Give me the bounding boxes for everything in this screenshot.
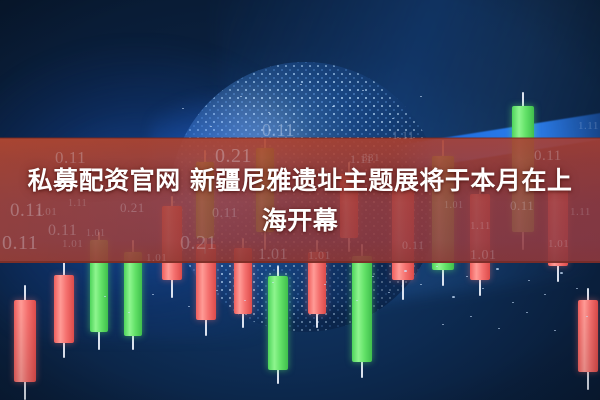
headline-container: 私募配资官网 新疆尼雅遗址主题展将于本月在上海开幕 [0,138,600,263]
headline-text: 私募配资官网 新疆尼雅遗址主题展将于本月在上海开幕 [20,161,580,241]
news-banner: 0.110.110.110.111.011.011.110.211.010.21… [0,0,600,400]
